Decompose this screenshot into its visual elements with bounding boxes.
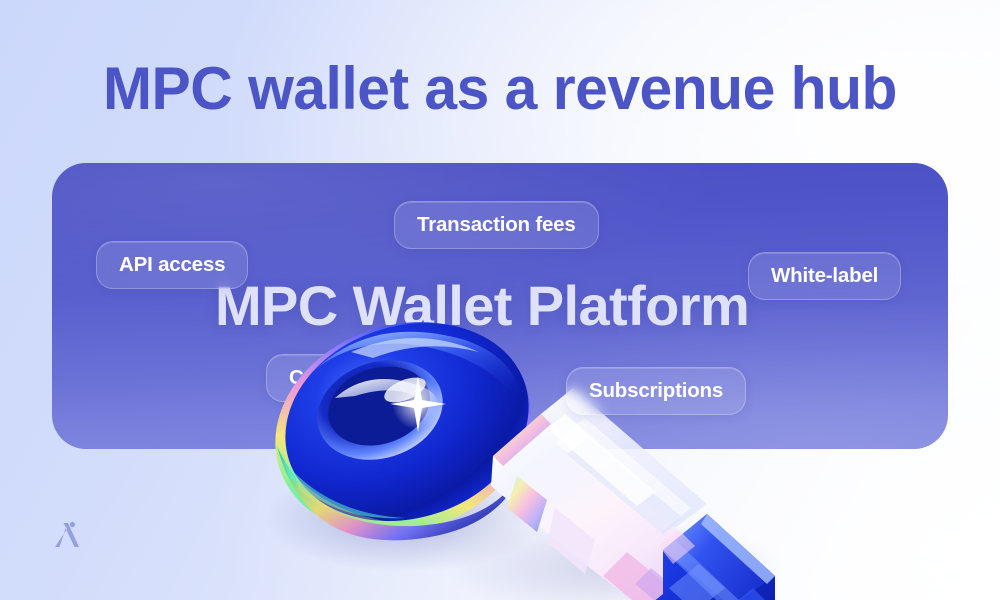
- hero-banner: MPC wallet as a revenue hub MPC Wallet P…: [0, 0, 1000, 600]
- page-title: MPC wallet as a revenue hub: [10, 52, 990, 126]
- pill-api-access[interactable]: API access: [96, 241, 248, 289]
- lambda-mark-logo-icon[interactable]: [50, 518, 84, 552]
- card-heading: MPC Wallet Platform: [215, 272, 749, 340]
- pill-transaction-fees[interactable]: Transaction fees: [394, 201, 599, 249]
- pill-custody[interactable]: Custody: [266, 354, 393, 402]
- pill-white-label[interactable]: White-label: [748, 252, 901, 300]
- pill-subscriptions[interactable]: Subscriptions: [566, 367, 746, 415]
